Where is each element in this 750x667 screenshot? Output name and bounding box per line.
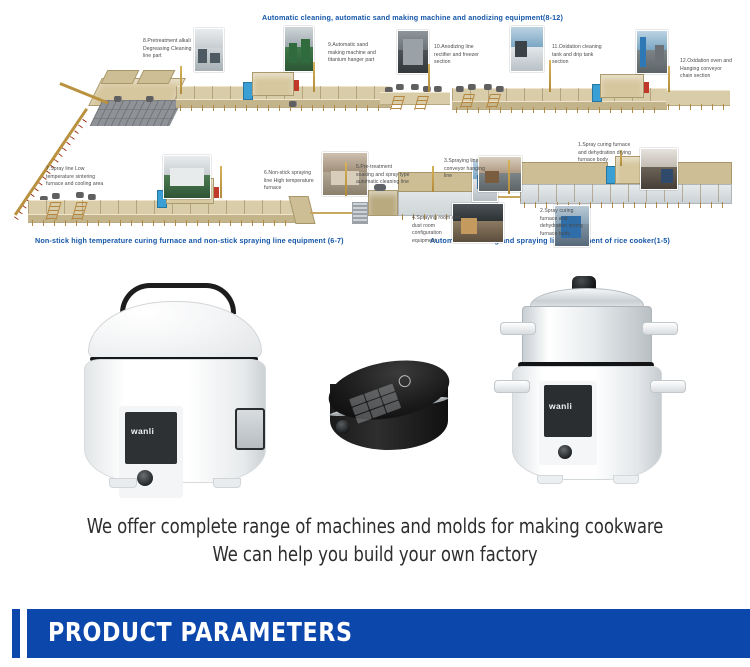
hood-curing-furnace-2 — [672, 162, 732, 186]
brand-logo: wanli — [549, 401, 572, 411]
diagram-title-top: Automatic cleaning, automatic sand makin… — [262, 13, 563, 22]
motor-icon — [146, 96, 153, 102]
banner-accent-bar — [12, 609, 20, 658]
motor-icon — [468, 84, 475, 90]
control-panel: wanli — [544, 385, 592, 437]
hood-pretreatment-b — [137, 70, 176, 84]
steamer-handle-right — [642, 322, 678, 335]
ladder — [414, 96, 429, 110]
product-showcase: wanli — [0, 258, 750, 508]
pretreatment-tank-grid — [90, 100, 183, 126]
ladder — [390, 96, 405, 110]
cooker-body: wanli — [84, 359, 266, 483]
condensation-collector — [235, 408, 265, 450]
motor-icon — [52, 193, 59, 199]
tagline-block: We offer complete range of machines and … — [0, 512, 750, 569]
step-label-12: 12.Oxidation oven and Hanging conveyor c… — [680, 58, 734, 81]
steamer-handle-left — [500, 322, 536, 335]
photo-thumbnail-sintering-furnace — [163, 155, 211, 199]
control-knob — [558, 445, 572, 459]
motor-icon — [411, 84, 418, 90]
step-label-4: 4.Spraying room and dust room configurat… — [412, 215, 462, 246]
banner-title: PRODUCT PARAMETERS — [48, 618, 353, 648]
leader-line — [345, 162, 347, 196]
leader-line — [220, 166, 222, 198]
photo-thumbnail-pretreatment — [194, 28, 224, 72]
base-foot — [109, 478, 137, 488]
machine-sandmaking — [252, 72, 294, 96]
product-parameters-banner: PRODUCT PARAMETERS — [0, 609, 750, 658]
motor-icon — [496, 86, 503, 92]
step-label-6: 6.Non-stick spraying line High temperatu… — [264, 170, 320, 193]
leader-line — [180, 66, 182, 94]
leader-line — [428, 64, 430, 92]
photo-thumbnail-sandmaking — [284, 26, 314, 72]
base-foot — [613, 475, 639, 484]
indicator-red — [644, 82, 649, 93]
photo-thumbnail-hanging-conveyor — [636, 30, 668, 74]
motor-icon — [456, 86, 463, 92]
photo-thumbnail-anodizing-rectifier — [397, 30, 429, 74]
conveyor-legs — [180, 105, 388, 111]
body-handle-left — [494, 380, 530, 393]
leader-line — [549, 60, 551, 92]
step-label-2: 2.Spray curing furnace and dehydration d… — [540, 208, 592, 239]
motor-icon — [114, 96, 121, 102]
steamer-basket — [522, 306, 652, 366]
step-label-8: 8.Pretreatment alkali Degreasing Cleanin… — [143, 38, 195, 61]
machine-soaking-tank — [368, 190, 398, 216]
step-label-9: 9.Automatic sand making machine and tita… — [328, 42, 376, 65]
cooker-body: wanli — [512, 366, 662, 480]
step-label-11: 11.Oxidation cleaning tank and drip tank… — [552, 44, 602, 67]
step-label-1: 1.Spray curing furnace and dehydration d… — [578, 142, 634, 165]
line-rail — [310, 212, 354, 214]
leader-line — [668, 66, 670, 92]
leader-line — [432, 166, 434, 192]
leader-line — [313, 62, 315, 92]
photo-thumbnail-curing-furnace-body — [640, 148, 678, 190]
tagline-line-2: We can help you build your own factory — [30, 540, 720, 568]
base-foot — [537, 475, 563, 484]
conveyor-legs — [668, 104, 728, 110]
product-image-black-oval-cooker — [320, 358, 460, 468]
tagline-line-1: We offer complete range of machines and … — [30, 512, 720, 540]
conveyor-legs — [32, 220, 294, 226]
step-label-3: 3.Spraying line conveyor hanging line — [444, 158, 486, 181]
line-rail — [496, 196, 520, 198]
indicator-red — [214, 187, 219, 198]
photo-thumbnail-oxidation-tank — [510, 26, 544, 72]
control-panel: wanli — [125, 412, 177, 464]
machine-oxidation-oven — [600, 74, 644, 98]
production-line-diagram: Automatic cleaning, automatic sand makin… — [0, 0, 750, 258]
conveyor-seams — [520, 184, 730, 202]
indicator-red — [294, 80, 299, 91]
diagram-title-bottom-left: Non-stick high temperature curing furnac… — [35, 236, 344, 245]
step-label-5: 5.Pre-treatment soaking and spray type a… — [356, 164, 410, 187]
lid-release-button — [336, 420, 350, 434]
product-image-white-rice-cooker: wanli — [74, 283, 274, 498]
step-label-7: 7.Spray line Low temperature sintering f… — [46, 166, 104, 189]
touch-control-panel — [349, 384, 401, 424]
base-foot — [213, 478, 241, 488]
leader-line — [508, 160, 510, 194]
motor-icon — [76, 192, 83, 198]
product-image-steamer-rice-cooker: wanli — [494, 276, 684, 498]
brand-logo: wanli — [131, 426, 154, 436]
machine-pretreatment-stairs — [352, 202, 368, 224]
hood-pretreatment-a — [101, 70, 140, 84]
step-label-10: 10.Anodizing line rectifier and freezer … — [434, 44, 484, 67]
brand-badge-icon — [397, 373, 412, 388]
body-handle-right — [650, 380, 686, 393]
motor-icon — [289, 101, 296, 107]
motor-icon — [396, 84, 403, 90]
control-knob — [137, 470, 153, 486]
hood-curing-furnace-1 — [520, 162, 608, 186]
motor-icon — [484, 84, 491, 90]
